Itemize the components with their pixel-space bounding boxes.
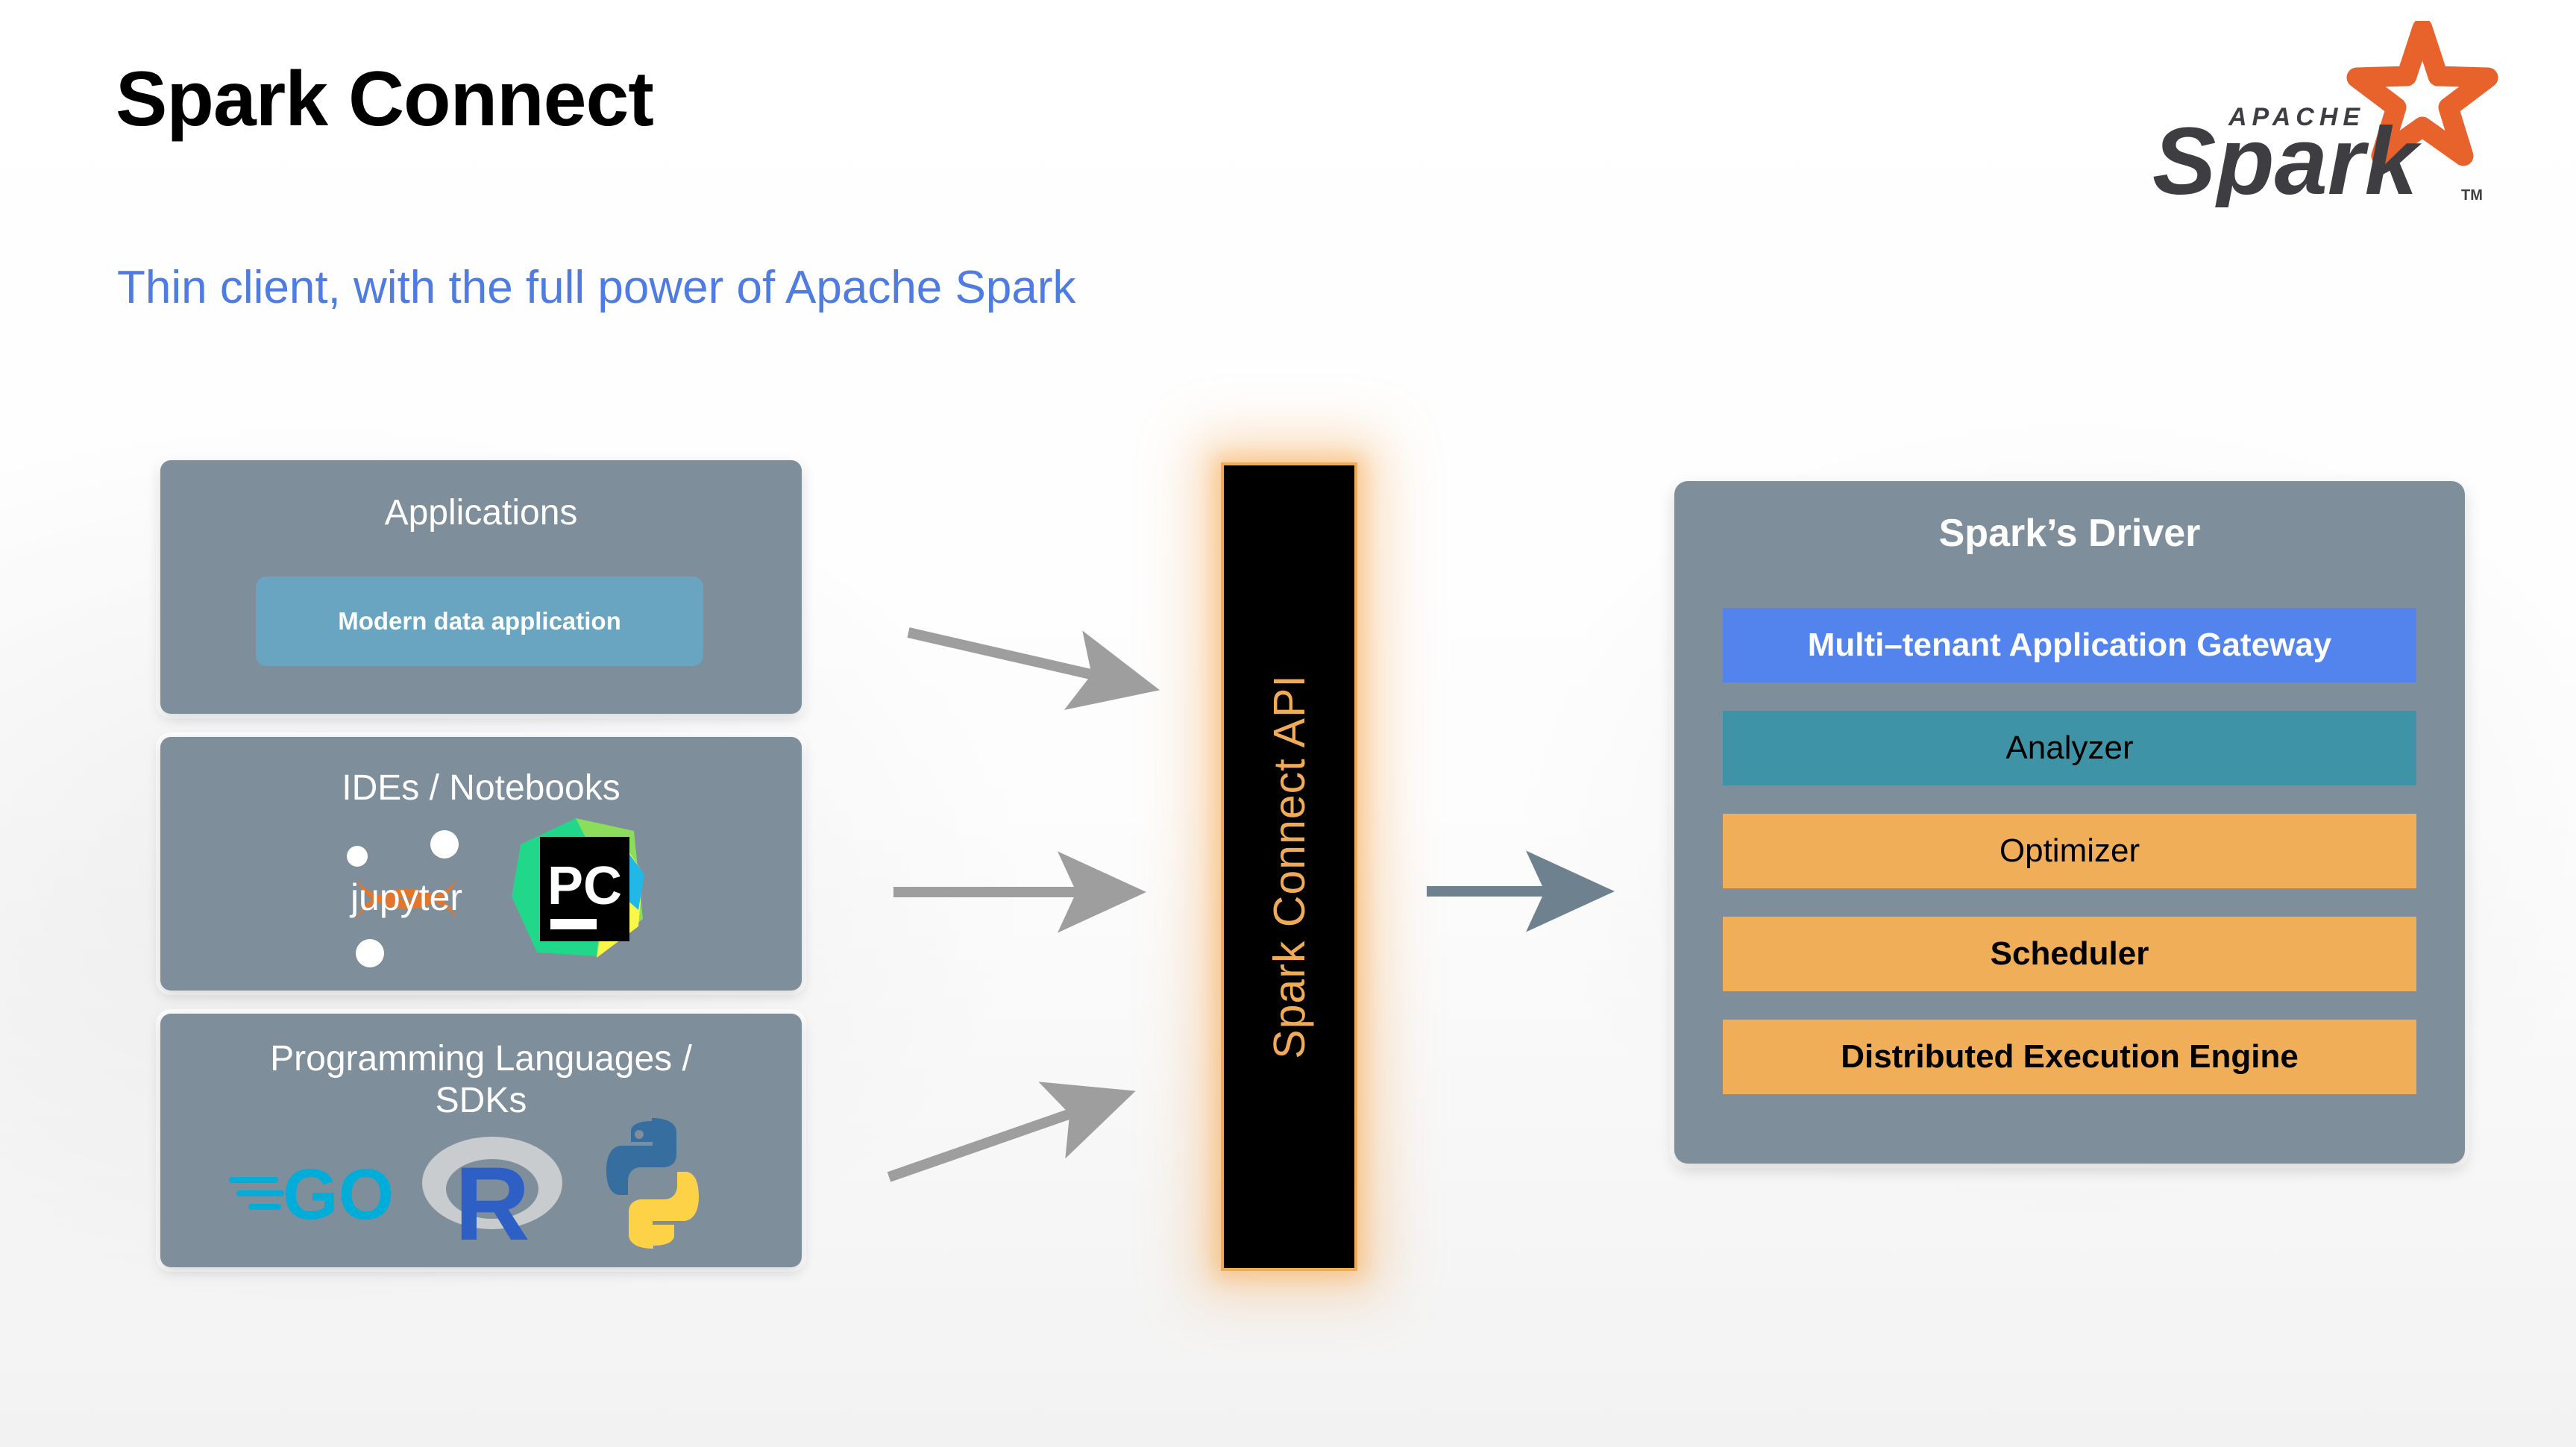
jupyter-wordmark-text: jupyter [349,876,462,918]
arrow-applications-to-api [908,633,1104,677]
driver-row-optimizer[interactable]: Optimizer [1723,814,2416,888]
card-programming-languages-title-line1: Programming Languages / [160,1039,802,1079]
page-title: Spark Connect [116,55,653,144]
pycharm-pc-text: PC [547,856,622,916]
logo-wordmark-text: Spark [2152,108,2422,207]
page-subtitle: Thin client, with the full power of Apac… [117,261,1075,314]
driver-row-gateway[interactable]: Multi–tenant Application Gateway [1723,608,2416,682]
driver-row-execution-engine[interactable]: Distributed Execution Engine [1723,1020,2416,1094]
card-applications-title: Applications [160,493,802,533]
pill-modern-data-application[interactable]: Modern data application [256,577,703,666]
spark-connect-api-label: Spark Connect API [1264,674,1315,1059]
apache-spark-logo: APACHE Spark TM [2133,21,2506,207]
jupyter-logo: jupyter [339,819,474,968]
python-logo [589,1118,716,1249]
spark-connect-api-bar[interactable]: Spark Connect API [1221,462,1357,1271]
r-letter-text: R [454,1145,530,1249]
r-logo: R [418,1129,567,1249]
spark-driver-title: Spark’s Driver [1674,511,2465,556]
driver-row-execution-engine-label: Distributed Execution Engine [1841,1038,2299,1076]
spark-driver-panel[interactable]: Spark’s Driver Multi–tenant Application … [1674,481,2465,1164]
arrow-languages-to-api [889,1110,1081,1177]
card-ides-notebooks[interactable]: IDEs / Notebooks jupyter PC [160,737,802,991]
card-programming-languages-title-line2: SDKs [160,1081,802,1121]
logo-trademark-text: TM [2461,187,2483,204]
driver-row-optimizer-label: Optimizer [1999,832,2140,870]
driver-row-analyzer-label: Analyzer [2005,729,2133,767]
driver-row-scheduler[interactable]: Scheduler [1723,917,2416,991]
driver-row-scheduler-label: Scheduler [1991,935,2149,973]
pycharm-logo: PC [507,814,645,964]
go-logo: GO [227,1144,399,1241]
card-applications[interactable]: Applications Modern data application [160,460,802,714]
card-ides-notebooks-title: IDEs / Notebooks [160,768,802,809]
driver-row-gateway-label: Multi–tenant Application Gateway [1808,627,2331,664]
go-wordmark-text: GO [283,1155,394,1234]
card-programming-languages[interactable]: Programming Languages / SDKs GO R [160,1014,802,1267]
driver-row-analyzer[interactable]: Analyzer [1723,711,2416,785]
